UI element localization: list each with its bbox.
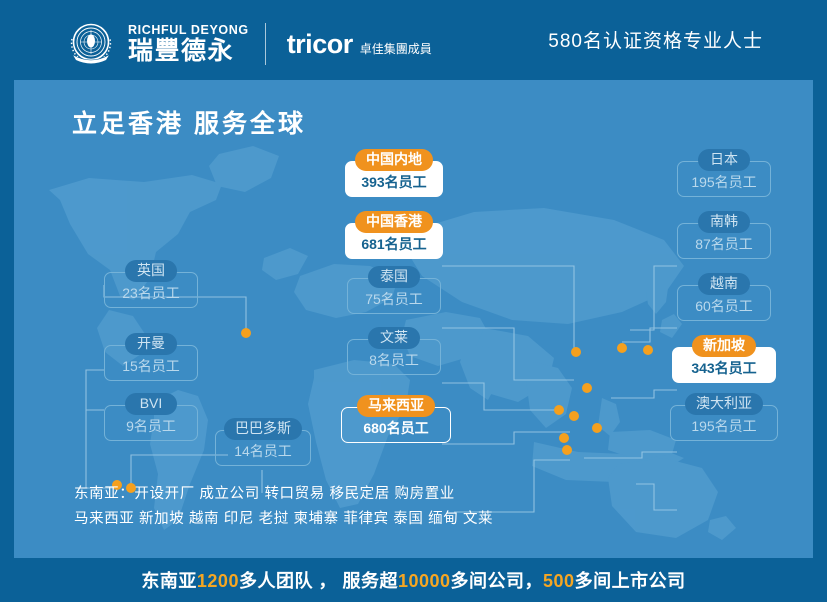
- location-name: 中国香港: [355, 211, 433, 233]
- logo-divider: [265, 23, 266, 65]
- crest-emblem-icon: [64, 17, 118, 71]
- location-name: 澳大利亚: [685, 393, 763, 415]
- footer-number-team: 1200: [197, 571, 239, 591]
- header-tagline: 580名认证资格专业人士: [548, 0, 763, 78]
- location-name: 新加坡: [692, 335, 756, 357]
- location-label-south-korea[interactable]: 南韩 87名员工: [677, 211, 771, 259]
- partner-brand-subtitle: 卓佳集團成員: [360, 42, 432, 56]
- location-label-brunei[interactable]: 文莱 8名员工: [347, 327, 441, 375]
- location-name: 南韩: [698, 211, 750, 233]
- location-label-singapore[interactable]: 新加坡 343名员工: [672, 335, 776, 383]
- footer-summary: 东南亚1200多人团队 ， 服务超10000多间公司，500多间上市公司: [141, 567, 685, 593]
- logo-english-name: RICHFUL DEYONG: [128, 23, 249, 37]
- location-label-mainland-cn[interactable]: 中国内地 393名员工: [345, 149, 443, 197]
- header-tagline-text: 580名认证资格专业人士: [548, 26, 763, 53]
- notes-line-countries: 马来西亚 新加坡 越南 印尼 老挝 柬埔寨 菲律宾 泰国 缅甸 文莱: [74, 507, 493, 532]
- location-label-thailand[interactable]: 泰国 75名员工: [347, 266, 441, 314]
- location-label-uk[interactable]: 英国 23名员工: [104, 260, 198, 308]
- location-name: 越南: [698, 273, 750, 295]
- footer-seg-1: 东南亚: [141, 571, 197, 591]
- page-footer: 东南亚1200多人团队 ， 服务超10000多间公司，500多间上市公司: [0, 558, 827, 602]
- location-label-japan[interactable]: 日本 195名员工: [677, 149, 771, 197]
- location-label-cayman[interactable]: 开曼 15名员工: [104, 333, 198, 381]
- location-name: 英国: [125, 260, 177, 282]
- logo-chinese-name: 瑞豐德永: [128, 37, 249, 66]
- footer-seg-4: 多间上市公司: [575, 571, 686, 591]
- notes-block: 东南亚：开设开厂 成立公司 转口贸易 移民定居 购房置业 马来西亚 新加坡 越南…: [74, 482, 493, 532]
- footer-seg-3: 多间公司，: [451, 571, 544, 591]
- location-label-vietnam[interactable]: 越南 60名员工: [677, 273, 771, 321]
- location-name: 巴巴多斯: [224, 418, 302, 440]
- location-label-australia[interactable]: 澳大利亚 195名员工: [670, 393, 778, 441]
- location-label-hong-kong[interactable]: 中国香港 681名员工: [345, 211, 443, 259]
- location-name: 文莱: [368, 327, 420, 349]
- content-panel: 立足香港 服务全球: [14, 80, 813, 558]
- location-name: 开曼: [125, 333, 177, 355]
- location-name: 中国内地: [355, 149, 433, 171]
- footer-number-companies: 10000: [398, 571, 451, 591]
- footer-number-listed: 500: [543, 571, 575, 591]
- notes-line-services: 东南亚：开设开厂 成立公司 转口贸易 移民定居 购房置业: [74, 482, 493, 507]
- page-header: RICHFUL DEYONG 瑞豐德永 tricor 卓佳集團成員 580名认证…: [0, 0, 827, 78]
- location-name: 泰国: [368, 266, 420, 288]
- partner-brand-name: tricor: [287, 29, 353, 59]
- footer-seg-2: 多人团队 ， 服务超: [239, 571, 398, 591]
- brand-logo: RICHFUL DEYONG 瑞豐德永 tricor 卓佳集團成員: [64, 17, 432, 71]
- location-label-barbados[interactable]: 巴巴多斯 14名员工: [215, 418, 311, 466]
- location-label-bvi[interactable]: BVI 9名员工: [104, 393, 198, 441]
- location-name: 日本: [698, 149, 750, 171]
- location-name: BVI: [125, 393, 177, 415]
- location-name: 马来西亚: [357, 395, 435, 417]
- location-label-malaysia[interactable]: 马来西亚 680名员工: [341, 395, 451, 443]
